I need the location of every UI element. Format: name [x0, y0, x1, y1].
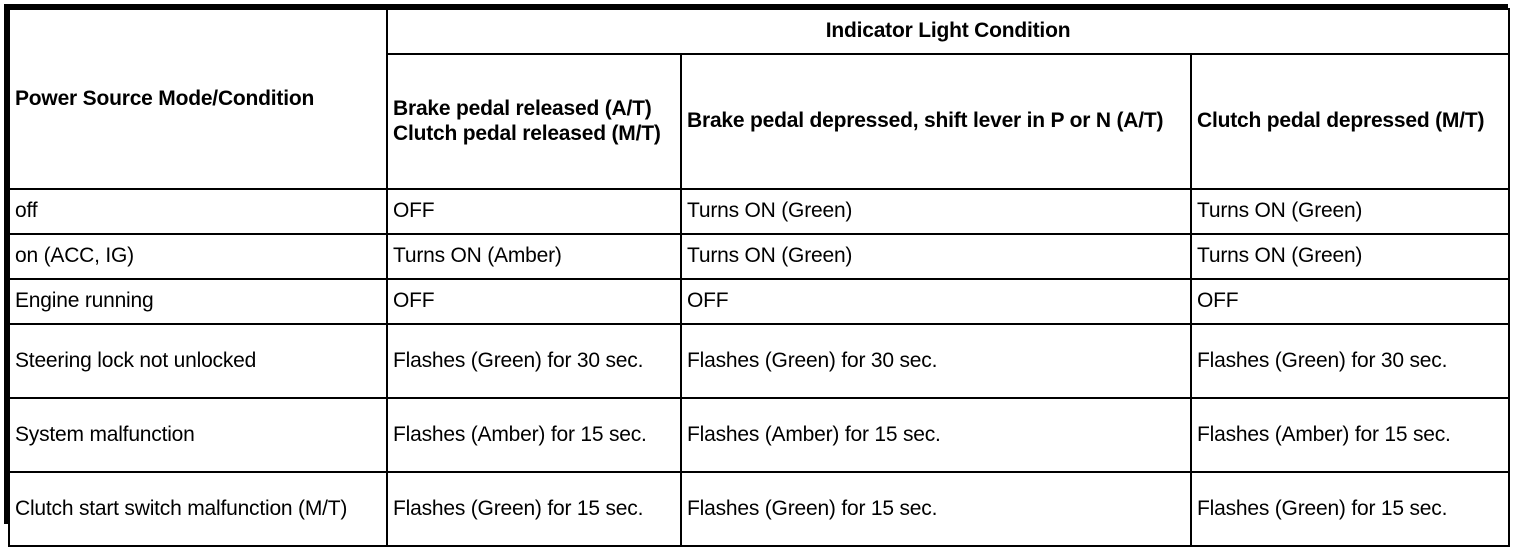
- row-condition-label: Engine running: [9, 279, 387, 324]
- row-value-col2: Flashes (Amber) for 15 sec.: [681, 398, 1191, 472]
- row-value-col1: Flashes (Green) for 30 sec.: [387, 324, 681, 398]
- header-brake-clutch-pedal-released: Brake pedal released (A/T) Clutch pedal …: [387, 54, 681, 189]
- row-value-col1: OFF: [387, 189, 681, 234]
- header-power-source-mode-condition: Power Source Mode/Condition: [9, 9, 387, 189]
- table-row: on (ACC, IG) Turns ON (Amber) Turns ON (…: [9, 234, 1509, 279]
- row-value-col2: OFF: [681, 279, 1191, 324]
- row-value-col3: Flashes (Green) for 30 sec.: [1191, 324, 1509, 398]
- row-value-col2: Flashes (Green) for 15 sec.: [681, 472, 1191, 546]
- row-condition-label: off: [9, 189, 387, 234]
- row-value-col3: OFF: [1191, 279, 1509, 324]
- header-brake-pedal-depressed-p-or-n: Brake pedal depressed, shift lever in P …: [681, 54, 1191, 189]
- table-header-row-group: Power Source Mode/Condition Indicator Li…: [9, 9, 1509, 54]
- indicator-light-condition-table: Power Source Mode/Condition Indicator Li…: [8, 8, 1510, 547]
- row-condition-label: Steering lock not unlocked: [9, 324, 387, 398]
- row-value-col1: Turns ON (Amber): [387, 234, 681, 279]
- row-value-col2: Turns ON (Green): [681, 234, 1191, 279]
- indicator-light-condition-table-container: Power Source Mode/Condition Indicator Li…: [4, 4, 1508, 524]
- row-condition-label: Clutch start switch malfunction (M/T): [9, 472, 387, 546]
- row-value-col2: Flashes (Green) for 30 sec.: [681, 324, 1191, 398]
- table-row: off OFF Turns ON (Green) Turns ON (Green…: [9, 189, 1509, 234]
- row-value-col2: Turns ON (Green): [681, 189, 1191, 234]
- row-value-col3: Turns ON (Green): [1191, 189, 1509, 234]
- row-value-col1: Flashes (Green) for 15 sec.: [387, 472, 681, 546]
- header-clutch-pedal-depressed: Clutch pedal depressed (M/T): [1191, 54, 1509, 189]
- table-row: Engine running OFF OFF OFF: [9, 279, 1509, 324]
- row-value-col3: Flashes (Green) for 15 sec.: [1191, 472, 1509, 546]
- row-condition-label: on (ACC, IG): [9, 234, 387, 279]
- header-indicator-light-condition: Indicator Light Condition: [387, 9, 1509, 54]
- table-row: System malfunction Flashes (Amber) for 1…: [9, 398, 1509, 472]
- table-row: Steering lock not unlocked Flashes (Gree…: [9, 324, 1509, 398]
- row-value-col1: Flashes (Amber) for 15 sec.: [387, 398, 681, 472]
- table-row: Clutch start switch malfunction (M/T) Fl…: [9, 472, 1509, 546]
- row-value-col3: Turns ON (Green): [1191, 234, 1509, 279]
- row-value-col3: Flashes (Amber) for 15 sec.: [1191, 398, 1509, 472]
- row-value-col1: OFF: [387, 279, 681, 324]
- row-condition-label: System malfunction: [9, 398, 387, 472]
